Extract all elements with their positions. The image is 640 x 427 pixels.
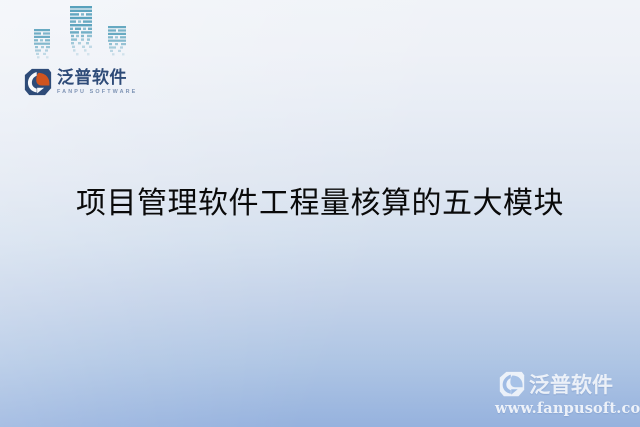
company-name-cn: 泛普软件 — [57, 70, 137, 87]
brand-block: 泛普软件 FANPU SOFTWARE — [22, 4, 152, 108]
fanpu-logo-lockup: 泛普软件 FANPU SOFTWARE — [24, 68, 137, 96]
watermark-logo-row: 泛普软件 — [495, 369, 635, 399]
site-watermark: 泛普软件 www.fanpusoft.com — [495, 369, 635, 419]
company-name-en: FANPU SOFTWARE — [57, 90, 137, 95]
watermark-company-name: 泛普软件 — [529, 369, 613, 399]
pixel-city-skyline-icon — [30, 4, 142, 66]
page-title: 项目管理软件工程量核算的五大模块 — [0, 183, 640, 225]
fanpu-logo-mark-icon — [24, 68, 52, 96]
fanpu-watermark-logo-mark-icon — [499, 371, 525, 397]
fanpu-logo-wordmark: 泛普软件 FANPU SOFTWARE — [57, 69, 137, 95]
promo-banner: 泛普软件 FANPU SOFTWARE 项目管理软件工程量核算的五大模块 泛普软… — [0, 0, 640, 427]
watermark-website-url: www.fanpusoft.com — [495, 400, 635, 417]
